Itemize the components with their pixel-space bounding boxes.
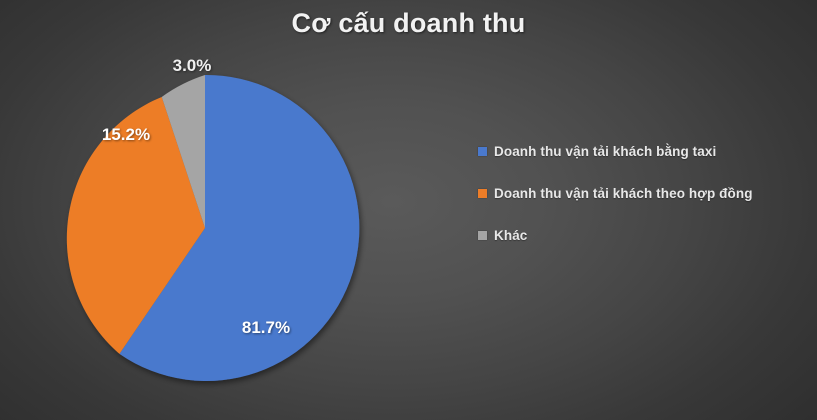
pie-chart-svg <box>30 55 450 415</box>
legend-swatch-icon-contract <box>478 189 487 198</box>
chart-legend: Doanh thu vận tải khách bằng taxi Doanh … <box>478 140 798 266</box>
legend-label-contract: Doanh thu vận tải khách theo hợp đồng <box>494 186 753 201</box>
page-title: Cơ cấu doanh thu <box>0 8 817 39</box>
pie-slices-group <box>67 75 359 381</box>
legend-swatch-icon-other <box>478 231 487 240</box>
pie-chart-plot-area: 81.7% 15.2% 3.0% <box>30 55 450 415</box>
legend-label-taxi: Doanh thu vận tải khách bằng taxi <box>494 144 716 159</box>
legend-swatch-icon-taxi <box>478 147 487 156</box>
legend-item-taxi[interactable]: Doanh thu vận tải khách bằng taxi <box>478 140 798 162</box>
pie-data-label-other: 3.0% <box>173 56 212 76</box>
legend-item-other[interactable]: Khác <box>478 224 798 246</box>
pie-data-label-taxi: 81.7% <box>242 318 290 338</box>
legend-label-other: Khác <box>494 228 527 243</box>
pie-data-label-contract: 15.2% <box>102 125 150 145</box>
chart-slide: Cơ cấu doanh thu 81.7% 15.2% 3.0% Doanh … <box>0 0 817 420</box>
legend-item-contract[interactable]: Doanh thu vận tải khách theo hợp đồng <box>478 182 798 204</box>
